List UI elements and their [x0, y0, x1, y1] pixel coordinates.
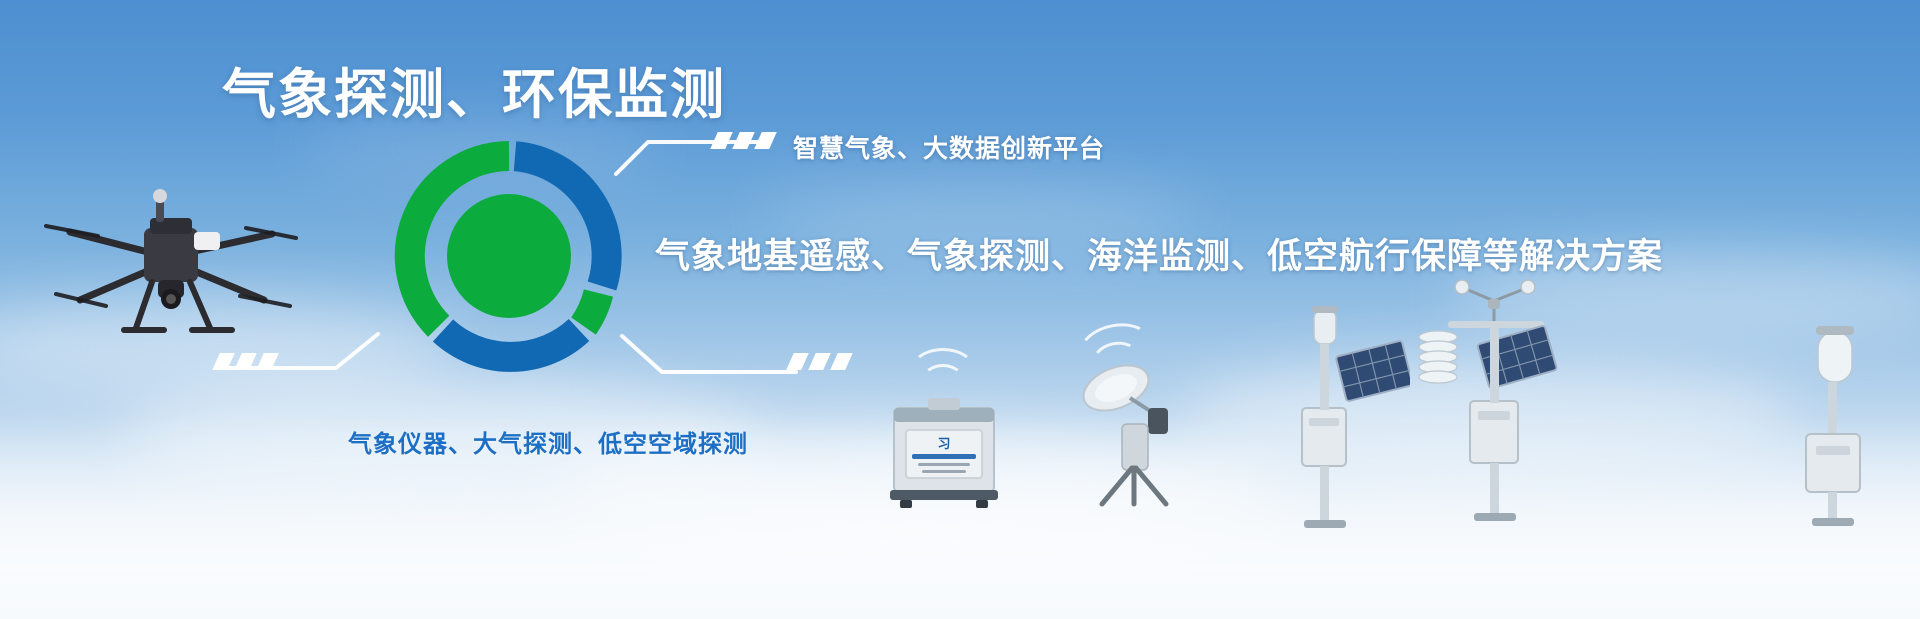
callout-label-top-right: 智慧气象、大数据创新平台 [793, 129, 1105, 165]
weather-monitoring-banner: 气象探测、环保监测 [0, 0, 1920, 619]
slash-mark [754, 132, 777, 149]
satellite-dish-illustration [1072, 358, 1192, 508]
drone-illustration [40, 160, 300, 350]
slash-mark [830, 353, 853, 370]
slash-mark [256, 353, 279, 370]
callout-label-main: 气象地基遥感、气象探测、海洋监测、低空航行保障等解决方案 [655, 228, 1663, 279]
anemometer-station-illustration [1408, 275, 1564, 525]
slash-mark [786, 353, 809, 370]
signal-wave-icon [922, 364, 964, 396]
slash-mark [710, 132, 733, 149]
donut-ring-graphic [393, 140, 625, 372]
page-title: 气象探测、环保监测 [222, 50, 726, 129]
slash-mark [234, 353, 257, 370]
slash-marks-top [714, 132, 773, 149]
slash-mark [732, 132, 755, 149]
slash-mark [212, 353, 235, 370]
callout-label-bottom-left: 气象仪器、大气探测、低空空域探测 [348, 424, 748, 459]
slash-mark [808, 353, 831, 370]
slash-marks-bottom-right [790, 353, 849, 370]
solar-weather-station-illustration [1278, 300, 1410, 530]
edge-sensor-illustration [1788, 318, 1898, 528]
lidar-unit-illustration: 习 [888, 390, 1000, 510]
ground-fade [0, 545, 1920, 619]
slash-marks-bottom-left [216, 353, 275, 370]
svg-text:习: 习 [937, 436, 950, 451]
